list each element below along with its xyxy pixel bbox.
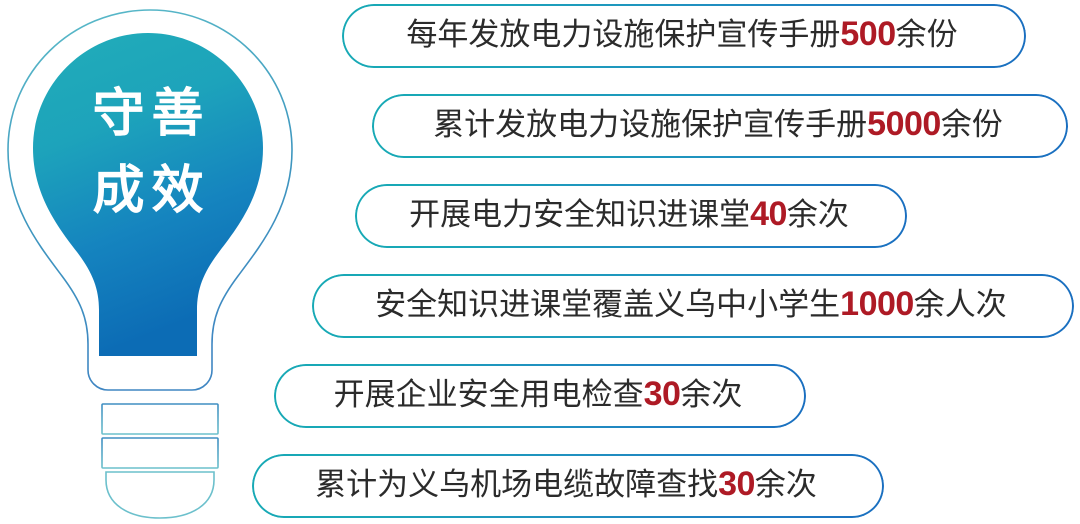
stat-pill-3-prefix: 开展电力安全知识进课堂	[409, 197, 750, 232]
stat-pill-4-text: 安全知识进课堂覆盖义乌中小学生1000余人次	[375, 287, 1007, 321]
stat-pill-1-prefix: 每年发放电力设施保护宣传手册	[406, 17, 840, 52]
stat-pill-2[interactable]: 累计发放电力设施保护宣传手册5000余份	[372, 94, 1064, 154]
stat-pill-5-text: 开展企业安全用电检查30余次	[334, 377, 743, 411]
stat-pill-2-text: 累计发放电力设施保护宣传手册5000余份	[433, 107, 1003, 141]
stat-pill-1-text: 每年发放电力设施保护宣传手册500余份	[406, 17, 957, 51]
stat-pill-6-suffix: 余次	[755, 467, 817, 502]
lightbulb-icon	[0, 0, 360, 524]
stat-pill-6[interactable]: 累计为义乌机场电缆故障查找30余次	[252, 454, 880, 514]
stat-pill-1-suffix: 余份	[896, 17, 958, 52]
stat-pill-1[interactable]: 每年发放电力设施保护宣传手册500余份	[342, 4, 1022, 64]
stat-pill-5-prefix: 开展企业安全用电检查	[334, 377, 644, 412]
stat-pill-2-number: 5000	[867, 105, 941, 143]
stat-pill-3-number: 40	[750, 195, 787, 233]
stat-pill-4-prefix: 安全知识进课堂覆盖义乌中小学生	[375, 287, 840, 322]
stat-pill-4[interactable]: 安全知识进课堂覆盖义乌中小学生1000余人次	[312, 274, 1070, 334]
stat-pill-6-number: 30	[718, 465, 755, 503]
bulb-base-band-1	[102, 404, 218, 434]
stat-pill-3-suffix: 余次	[787, 197, 849, 232]
bulb-base-band-2	[102, 438, 218, 468]
bulb-base-cap	[106, 472, 214, 518]
bulb-body-fill	[33, 33, 263, 356]
stat-pill-3[interactable]: 开展电力安全知识进课堂40余次	[355, 184, 903, 244]
stat-pill-5[interactable]: 开展企业安全用电检查30余次	[274, 364, 802, 424]
stat-pill-4-suffix: 余人次	[914, 287, 1007, 322]
stat-pill-2-suffix: 余份	[941, 107, 1003, 142]
stat-pill-6-text: 累计为义乌机场电缆故障查找30余次	[315, 467, 817, 501]
stat-pill-4-number: 1000	[840, 285, 914, 323]
stat-pill-2-prefix: 累计发放电力设施保护宣传手册	[433, 107, 867, 142]
stat-pill-1-number: 500	[840, 15, 895, 53]
stat-pill-5-suffix: 余次	[680, 377, 742, 412]
stat-pill-6-prefix: 累计为义乌机场电缆故障查找	[315, 467, 718, 502]
stat-pill-5-number: 30	[644, 375, 681, 413]
infographic-canvas: 守善 成效 每年发放电力设施保护宣传手册500余份 累计发放电力设施保护宣传手册…	[0, 0, 1080, 524]
lightbulb-group: 守善 成效	[0, 0, 360, 524]
stat-pill-3-text: 开展电力安全知识进课堂40余次	[409, 197, 849, 231]
